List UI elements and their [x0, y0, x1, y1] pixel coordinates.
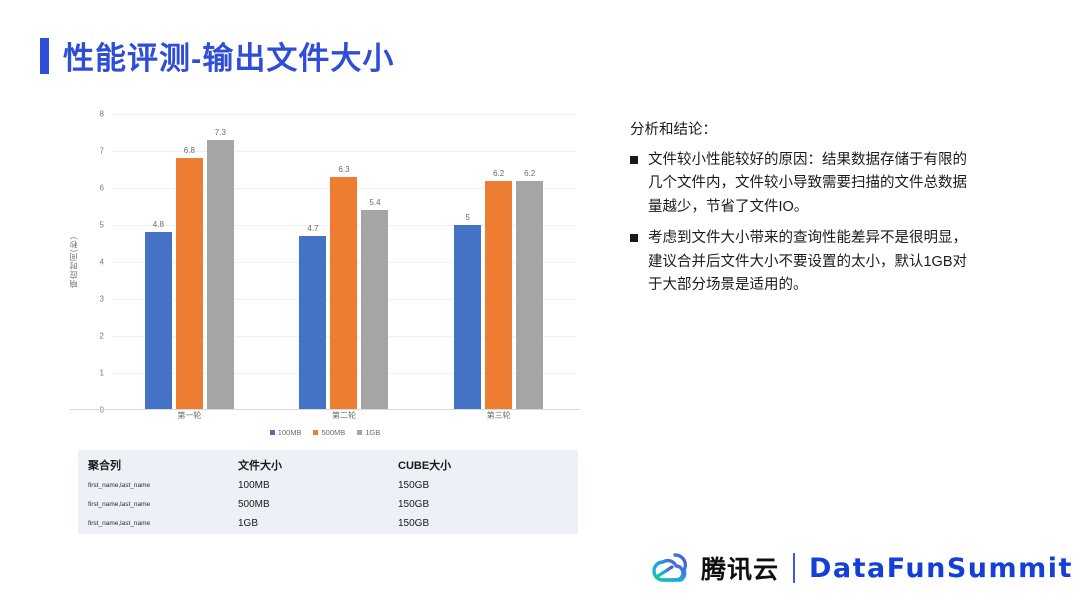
y-axis-tick: 2 [100, 332, 104, 341]
legend-swatch [270, 430, 275, 435]
bar-value-label: 6.8 [184, 146, 195, 155]
bar-column[interactable]: 7.3 [207, 114, 234, 410]
table-cell-cube-size: 150GB [398, 518, 568, 529]
bar-value-label: 5 [465, 213, 469, 222]
table-row: first_name,last_name1GB150GB [78, 514, 578, 533]
legend-label: 500MB [321, 428, 345, 437]
footer-divider [793, 553, 795, 583]
legend-item[interactable]: 1GB [357, 428, 380, 437]
table-cell-file-size: 500MB [238, 499, 398, 510]
page-title: 性能评测-输出文件大小 [40, 33, 394, 78]
tencent-cloud-icon [645, 548, 691, 588]
bar[interactable] [485, 181, 512, 410]
y-axis-tick: 8 [100, 110, 104, 119]
legend-label: 1GB [365, 428, 380, 437]
title-accent-bar [40, 38, 49, 74]
table-header-cell: 聚合列 [78, 457, 238, 473]
bar[interactable] [176, 158, 203, 410]
bar-value-label: 6.2 [524, 169, 535, 178]
x-axis-label: 第二轮 [297, 410, 390, 421]
bar[interactable] [299, 236, 326, 410]
bar-value-label: 6.3 [338, 165, 349, 174]
y-axis-tick: 4 [100, 258, 104, 267]
y-axis-tick: 6 [100, 184, 104, 193]
bar-column[interactable]: 6.8 [176, 114, 203, 410]
note-item: 考虑到文件大小带来的查询性能差异不是很明显，建议合并后文件大小不要设置的太小，默… [630, 227, 970, 297]
bar-column[interactable]: 6.3 [330, 114, 357, 410]
chart-legend: 100MB500MB1GB [70, 428, 580, 437]
bar-value-label: 4.7 [307, 224, 318, 233]
chart-plot-area: 响应时间(秒) 012345678 4.86.87.34.76.35.456.2… [70, 114, 580, 410]
bar-column[interactable]: 6.2 [516, 114, 543, 410]
bar[interactable] [454, 225, 481, 410]
bar[interactable] [361, 210, 388, 410]
legend-swatch [313, 430, 318, 435]
bullet-square-icon [630, 156, 638, 164]
y-axis-label: 响应时间(秒) [68, 236, 79, 288]
note-text: 考虑到文件大小带来的查询性能差异不是很明显，建议合并后文件大小不要设置的太小，默… [648, 227, 970, 297]
legend-item[interactable]: 500MB [313, 428, 345, 437]
y-axis-tick: 0 [100, 406, 104, 415]
x-axis-label: 第一轮 [143, 410, 236, 421]
datafunsummit-wordmark: DataFunSummit [809, 553, 1073, 584]
table-cell-agg: first_name,last_name [78, 520, 238, 527]
title-text: 性能评测-输出文件大小 [63, 33, 394, 78]
bar-group: 56.26.2 [454, 114, 543, 410]
bar[interactable] [145, 232, 172, 410]
bar-column[interactable]: 4.8 [145, 114, 172, 410]
bullet-square-icon [630, 234, 638, 242]
bar-column[interactable]: 5 [454, 114, 481, 410]
table-row: first_name,last_name100MB150GB [78, 476, 578, 495]
bar[interactable] [207, 140, 234, 410]
bar-column[interactable]: 5.4 [361, 114, 388, 410]
x-axis-labels: 第一轮第二轮第三轮 [112, 410, 576, 428]
bar-value-label: 4.8 [153, 220, 164, 229]
bar-value-label: 5.4 [369, 198, 380, 207]
analysis-notes: 分析和结论： 文件较小性能较好的原因：结果数据存储于有限的几个文件内，文件较小导… [630, 118, 970, 306]
y-axis-tick: 7 [100, 147, 104, 156]
table-cell-file-size: 100MB [238, 480, 398, 491]
y-axis-tick: 5 [100, 221, 104, 230]
table-cell-agg: first_name,last_name [78, 482, 238, 489]
tencent-cloud-wordmark: 腾讯云 [701, 550, 779, 586]
notes-heading: 分析和结论： [630, 118, 970, 139]
footer-branding: 腾讯云 DataFunSummit [645, 548, 1073, 588]
note-text: 文件较小性能较好的原因：结果数据存储于有限的几个文件内，文件较小导致需要扫描的文… [648, 149, 970, 219]
note-item: 文件较小性能较好的原因：结果数据存储于有限的几个文件内，文件较小导致需要扫描的文… [630, 149, 970, 219]
table-cell-file-size: 1GB [238, 518, 398, 529]
legend-item[interactable]: 100MB [270, 428, 302, 437]
table-header-cell: 文件大小 [238, 457, 398, 473]
table-header-row: 聚合列 文件大小 CUBE大小 [78, 450, 578, 476]
bar[interactable] [330, 177, 357, 410]
table-row: first_name,last_name500MB150GB [78, 495, 578, 514]
bar-column[interactable]: 4.7 [299, 114, 326, 410]
y-axis-tick: 1 [100, 369, 104, 378]
notes-list: 文件较小性能较好的原因：结果数据存储于有限的几个文件内，文件较小导致需要扫描的文… [630, 149, 970, 298]
table-cell-cube-size: 150GB [398, 499, 568, 510]
bar-column[interactable]: 6.2 [485, 114, 512, 410]
legend-label: 100MB [278, 428, 302, 437]
y-axis-tick: 3 [100, 295, 104, 304]
table-cell-cube-size: 150GB [398, 480, 568, 491]
summary-table: 聚合列 文件大小 CUBE大小 first_name,last_name100M… [78, 450, 578, 534]
y-axis-ticks: 012345678 [88, 114, 108, 410]
bar-value-label: 7.3 [215, 128, 226, 137]
x-axis-label: 第三轮 [452, 410, 545, 421]
table-cell-agg: first_name,last_name [78, 501, 238, 508]
legend-swatch [357, 430, 362, 435]
table-header-cell: CUBE大小 [398, 457, 568, 473]
bar-group: 4.76.35.4 [299, 114, 388, 410]
bar-group: 4.86.87.3 [145, 114, 234, 410]
bar-chart: 响应时间(秒) 012345678 4.86.87.34.76.35.456.2… [70, 114, 580, 444]
chart-bars: 4.86.87.34.76.35.456.26.2 [112, 114, 576, 410]
table-body: first_name,last_name100MB150GBfirst_name… [78, 476, 578, 533]
bar-value-label: 6.2 [493, 169, 504, 178]
slide-root: 性能评测-输出文件大小 响应时间(秒) 012345678 4.86.87.34… [0, 0, 1080, 608]
bar[interactable] [516, 181, 543, 410]
